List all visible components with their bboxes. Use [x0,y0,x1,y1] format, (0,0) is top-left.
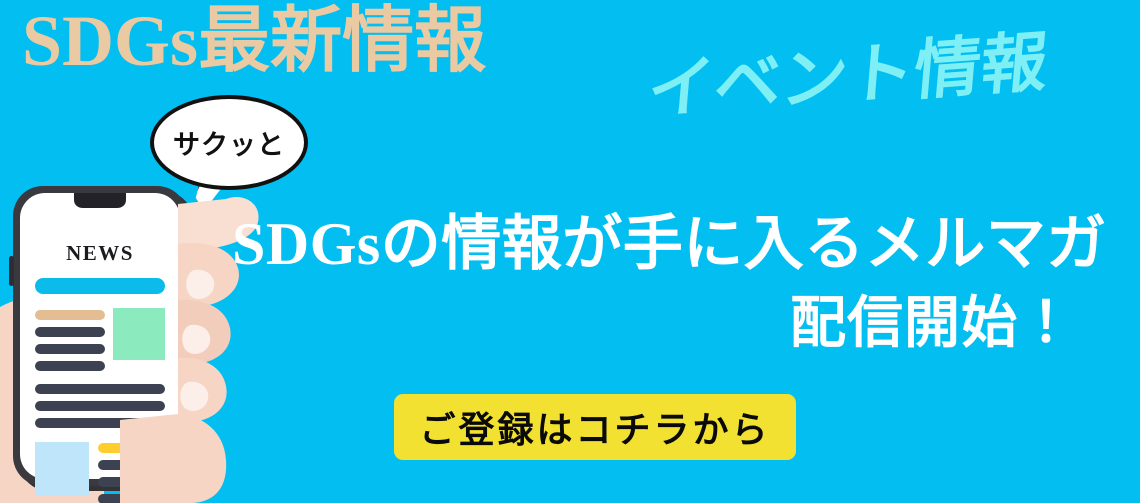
main-copy-line-2: 配信開始！ [790,296,1075,352]
sdgs-newsletter-banner: SDGs最新情報 イベント情報 サクッと [0,0,1140,503]
phone-header-bar [35,278,165,294]
phone-tan-bar [35,310,105,320]
register-cta-button[interactable]: ご登録はコチラから [394,394,796,460]
page-title-sdgs: SDGs最新情報 [22,5,486,77]
phone-green-thumbnail [113,308,165,360]
page-title-event: イベント情報 [645,28,1050,123]
main-copy-line-1: SDGsの情報が手に入るメルマガ [232,214,1107,274]
phone-screen-heading: NEWS [66,241,134,265]
register-cta-label: ご登録はコチラから [419,401,770,453]
phone-blue-thumbnail [35,442,89,496]
